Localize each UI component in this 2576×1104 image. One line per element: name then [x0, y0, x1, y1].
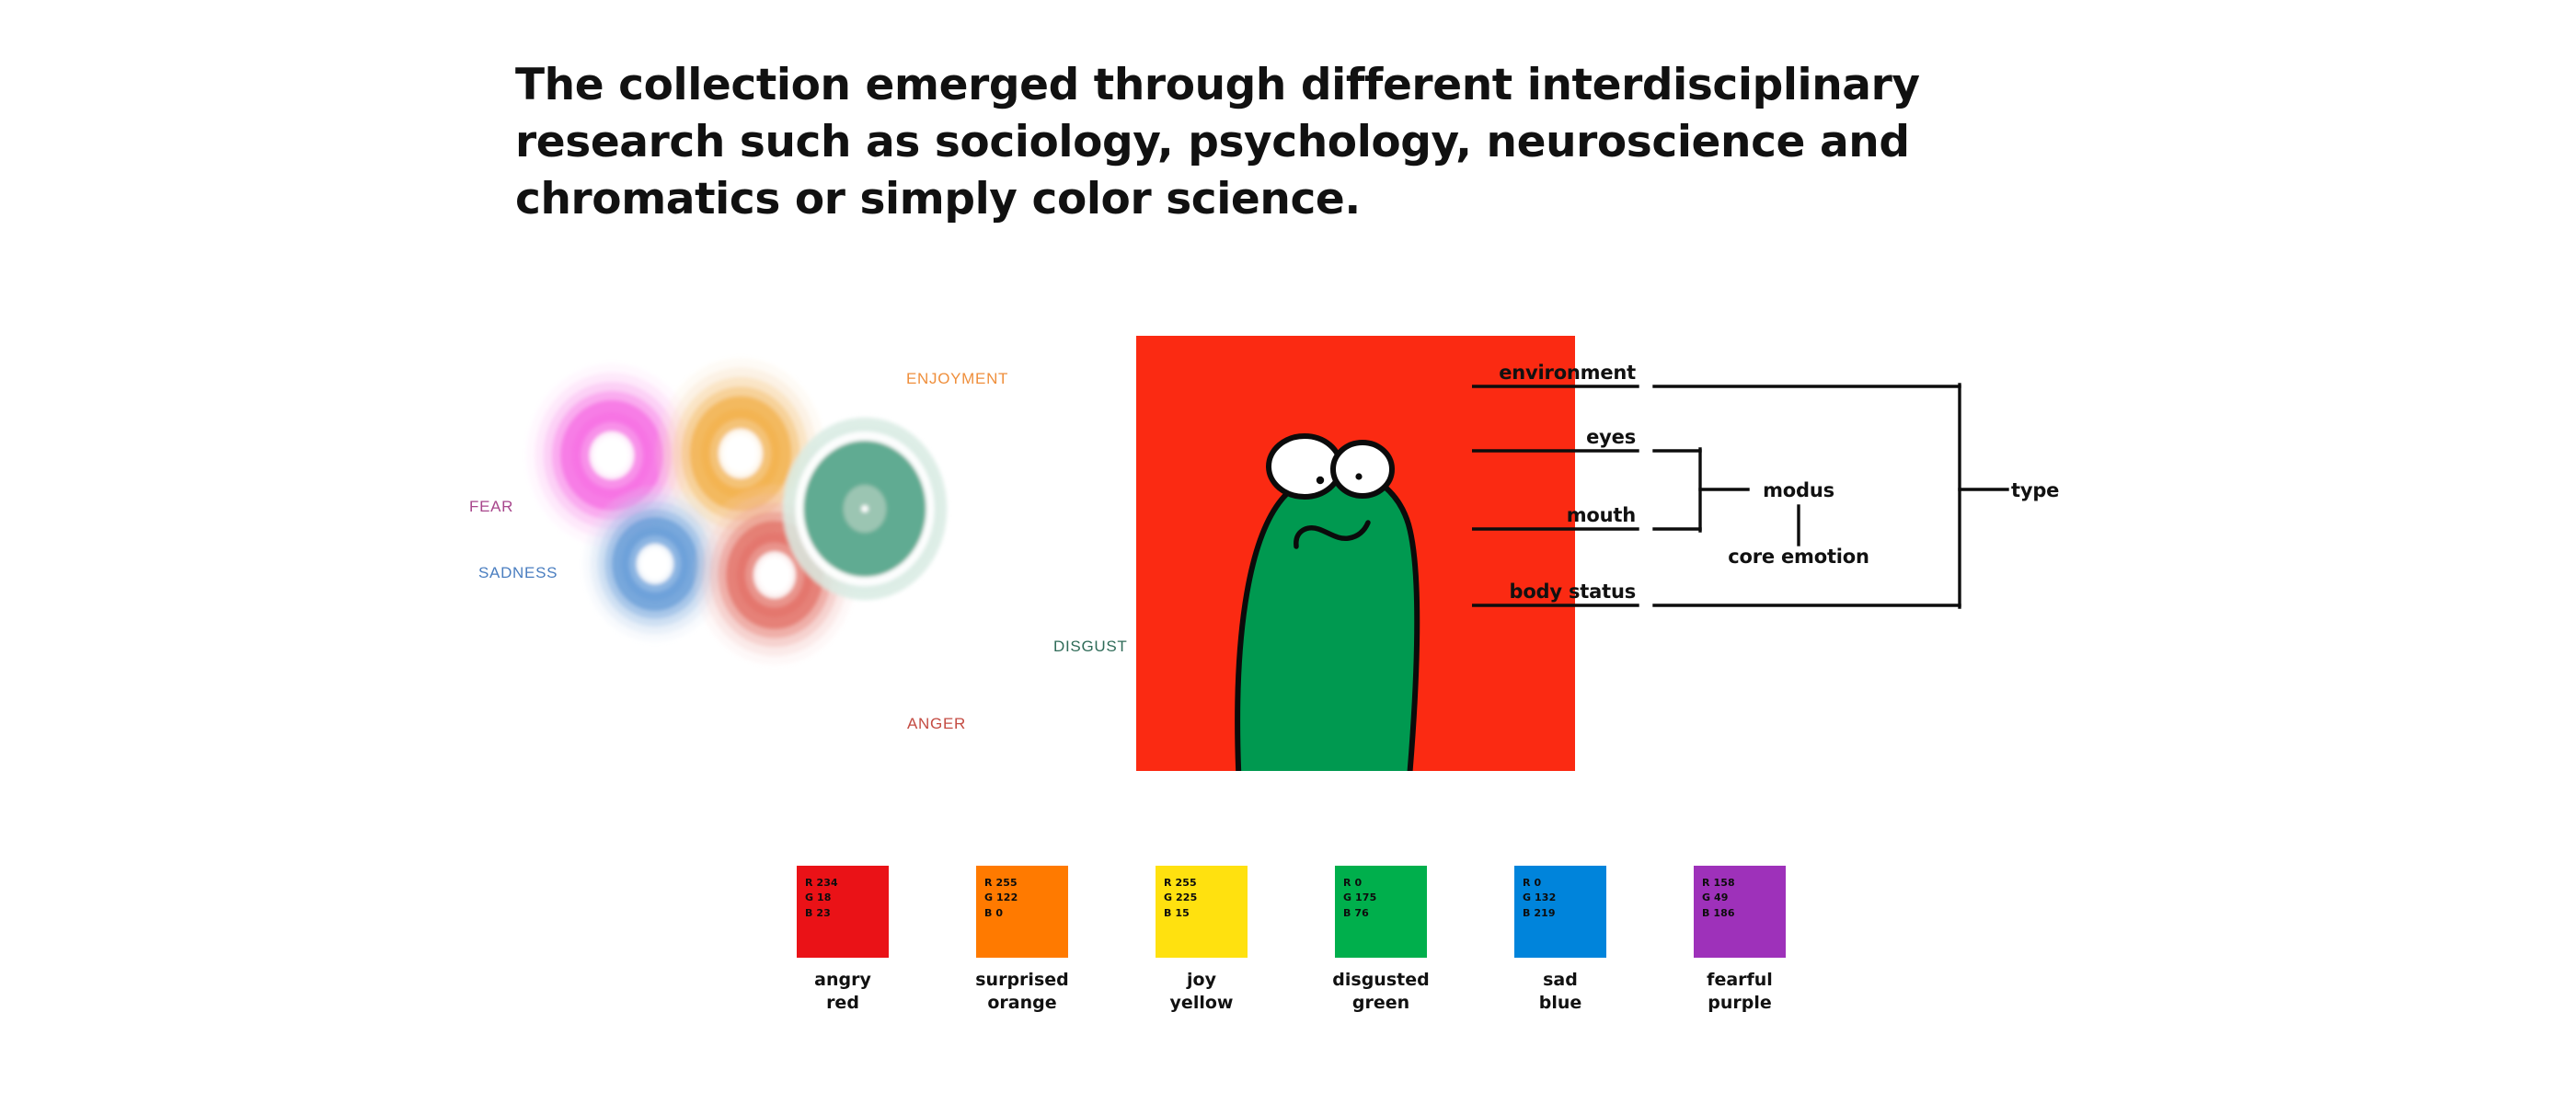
swatch-disgusted-green[interactable]: R 0 G 175 B 76disgusted green: [1335, 866, 1427, 958]
emotion-circle-cluster: FEARENJOYMENTDISGUSTSADNESSANGER: [478, 317, 1122, 777]
diagram-label-mouth: mouth: [1567, 504, 1636, 526]
swatch-rgb-values: R 255 G 122 B 0: [984, 876, 1018, 921]
swatch-name-sad-blue: sad blue: [1539, 969, 1582, 1015]
diagram-label-body-status: body status: [1510, 581, 1637, 603]
core-hole: [758, 557, 790, 592]
swatch-surprised-orange[interactable]: R 255 G 122 B 0surprised orange: [976, 866, 1068, 958]
swatch-name-surprised-orange: surprised orange: [975, 969, 1069, 1015]
swatch-rgb-values: R 255 G 225 B 15: [1164, 876, 1197, 921]
cluster-label-fear: FEAR: [469, 498, 513, 516]
emotion-taxonomy-diagram: environment eyes mouth body status modus…: [1472, 331, 2153, 653]
diagram-label-environment: environment: [1499, 362, 1636, 384]
cluster-label-enjoyment: ENJOYMENT: [906, 370, 1008, 388]
character-eye-right: [1333, 443, 1392, 496]
swatch-rgb-values: R 0 G 132 B 219: [1523, 876, 1556, 921]
swatch-chip-joy-yellow[interactable]: R 255 G 225 B 15: [1156, 866, 1248, 958]
core-hole: [594, 437, 628, 474]
diagram-label-eyes: eyes: [1586, 426, 1636, 448]
swatch-name-joy-yellow: joy yellow: [1170, 969, 1234, 1015]
swatch-chip-surprised-orange[interactable]: R 255 G 122 B 0: [976, 866, 1068, 958]
swatch-name-fearful-purple: fearful purple: [1707, 969, 1773, 1015]
cluster-label-disgust: DISGUST: [1053, 638, 1127, 656]
swatch-rgb-values: R 158 G 49 B 186: [1702, 876, 1735, 921]
swatch-chip-angry-red[interactable]: R 234 G 18 B 23: [797, 866, 889, 958]
swatch-angry-red[interactable]: R 234 G 18 B 23angry red: [797, 866, 889, 958]
cluster-label-anger: ANGER: [907, 715, 966, 733]
page-headline: The collection emerged through different…: [515, 57, 2134, 228]
swatch-name-angry-red: angry red: [814, 969, 871, 1015]
emotion-cluster-disgust-overlay: [783, 418, 947, 600]
cluster-svg: [478, 317, 1122, 777]
swatch-name-disgusted-green: disgusted green: [1332, 969, 1429, 1015]
character-eye-left: [1269, 436, 1340, 497]
cluster-label-sadness: SADNESS: [478, 564, 558, 582]
swatch-sad-blue[interactable]: R 0 G 132 B 219sad blue: [1514, 866, 1606, 958]
swatch-chip-sad-blue[interactable]: R 0 G 132 B 219: [1514, 866, 1606, 958]
core-hole: [724, 434, 758, 473]
diagram-node-type: type: [2011, 479, 2059, 501]
swatch-chip-disgusted-green[interactable]: R 0 G 175 B 76: [1335, 866, 1427, 958]
swatch-joy-yellow[interactable]: R 255 G 225 B 15joy yellow: [1156, 866, 1248, 958]
emotion-color-palette: R 234 G 18 B 23angry redR 255 G 122 B 0s…: [797, 866, 1790, 1050]
swatch-rgb-values: R 0 G 175 B 76: [1343, 876, 1376, 921]
swatch-rgb-values: R 234 G 18 B 23: [805, 876, 838, 921]
swatch-chip-fearful-purple[interactable]: R 158 G 49 B 186: [1694, 866, 1786, 958]
swatch-fearful-purple[interactable]: R 158 G 49 B 186fearful purple: [1694, 866, 1786, 958]
core-hole: [640, 548, 669, 580]
page-root: The collection emerged through different…: [0, 0, 2576, 1104]
diagram-node-modus: modus: [1763, 479, 1834, 501]
diagram-node-core-emotion: core emotion: [1728, 546, 1869, 568]
